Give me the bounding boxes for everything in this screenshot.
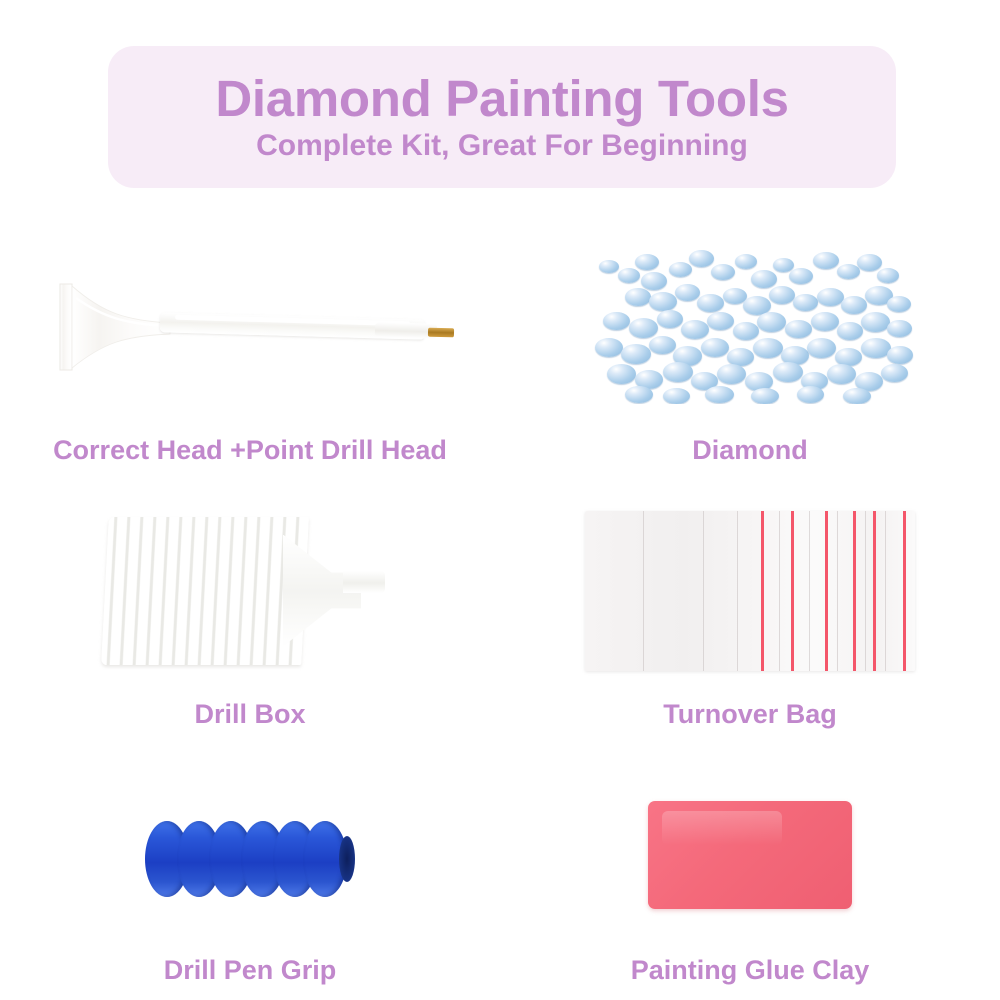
product-label: Diamond bbox=[692, 435, 808, 470]
page-subtitle: Complete Kit, Great For Beginning bbox=[256, 131, 748, 161]
product-cell-diamond: Diamond bbox=[500, 200, 1000, 470]
diamond-beads-figure bbox=[500, 200, 1000, 435]
drill-pen-figure bbox=[0, 200, 500, 435]
product-label: Painting Glue Clay bbox=[631, 955, 870, 990]
product-label: Turnover Bag bbox=[663, 699, 837, 734]
product-label: Drill Pen Grip bbox=[164, 955, 337, 990]
header-banner: Diamond Painting Tools Complete Kit, Gre… bbox=[108, 46, 896, 188]
product-label: Drill Box bbox=[194, 699, 305, 734]
product-row-2: Drill Box bbox=[0, 472, 1000, 734]
pen-grip-figure bbox=[0, 740, 500, 955]
product-grid: Correct Head +Point Drill Head bbox=[0, 200, 1000, 990]
clay-sheen bbox=[662, 811, 782, 845]
tray-ribs bbox=[101, 517, 309, 665]
product-row-1: Correct Head +Point Drill Head bbox=[0, 200, 1000, 470]
product-cell-turnover-bag: Turnover Bag bbox=[500, 472, 1000, 734]
diamond-beads-icon bbox=[585, 244, 915, 404]
turnover-bag-figure bbox=[500, 472, 1000, 699]
product-label: Correct Head +Point Drill Head bbox=[53, 435, 447, 470]
product-cell-painting-glue-clay: Painting Glue Clay bbox=[500, 740, 1000, 990]
grip-end-hole bbox=[339, 836, 355, 882]
product-cell-drill-box: Drill Box bbox=[0, 472, 500, 734]
product-cell-correct-head-point-drill-head: Correct Head +Point Drill Head bbox=[0, 200, 500, 470]
tray-handle bbox=[343, 571, 385, 593]
bag-stack bbox=[585, 511, 915, 671]
page-title: Diamond Painting Tools bbox=[215, 73, 788, 125]
drill-pen-icon bbox=[40, 272, 460, 382]
pen-grip-icon bbox=[145, 818, 355, 902]
pen-flat-head-icon bbox=[46, 280, 176, 374]
turnover-bag-icon bbox=[585, 511, 915, 671]
product-row-3: Drill Pen Grip Painting Glue Clay bbox=[0, 740, 1000, 990]
drill-box-figure bbox=[0, 472, 500, 699]
product-cell-drill-pen-grip: Drill Pen Grip bbox=[0, 740, 500, 990]
drill-box-tray-icon bbox=[105, 505, 395, 675]
glue-clay-figure bbox=[500, 740, 1000, 955]
tray-body bbox=[101, 517, 309, 665]
clay-block bbox=[648, 801, 852, 909]
pen-metal-tip-icon bbox=[428, 327, 454, 337]
glue-clay-icon bbox=[645, 795, 855, 915]
